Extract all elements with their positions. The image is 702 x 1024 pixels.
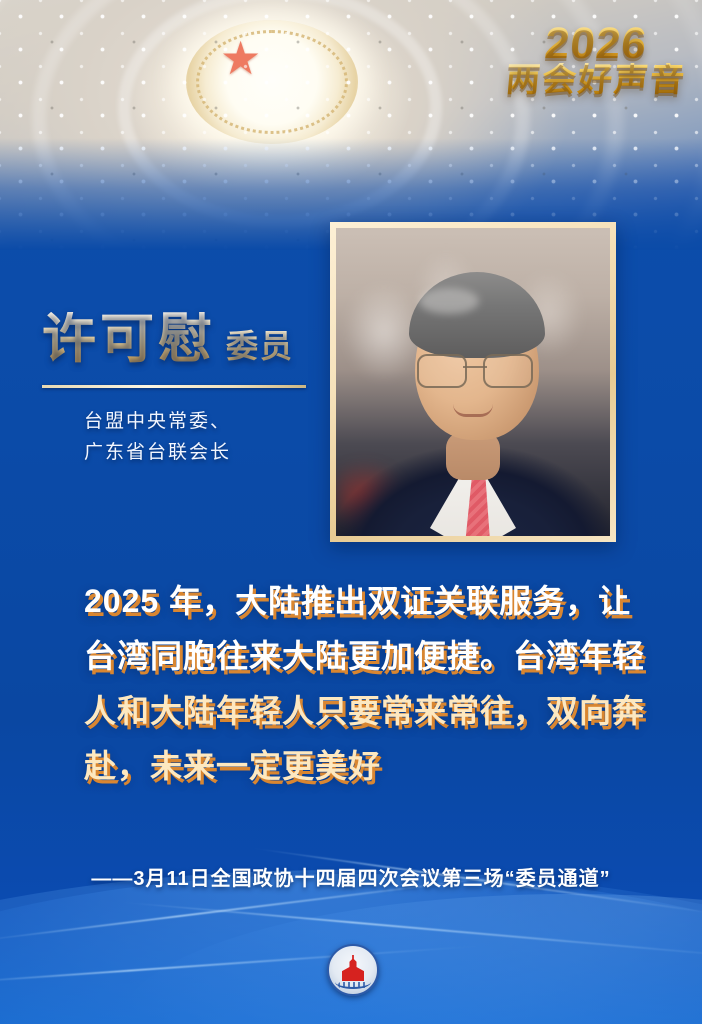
logo-year: 2026 <box>504 22 688 65</box>
name-block: 许可慰 委员 台盟中央常委、 广东省台联会长 <box>42 312 342 469</box>
person-subtitle-line-2: 广东省台联会长 <box>84 437 342 468</box>
emblem-text-dots <box>338 982 368 988</box>
glasses-icon <box>417 354 533 384</box>
person-subtitle-line-1: 台盟中央常委、 <box>84 406 342 437</box>
poster-root: ★ 2026 两会好声音 许可慰 委员 台盟中央常 <box>0 0 702 1024</box>
event-logo: 2026 两会好声音 <box>506 22 686 98</box>
quote-line: 赴，未来一定更美好 <box>84 739 629 794</box>
person-subtitle: 台盟中央常委、 广东省台联会长 <box>84 406 342 469</box>
quote-block: 2025 年，大陆推出双证关联服务，让 台湾同胞往来大陆更加便捷。台湾年轻 人和… <box>84 574 629 794</box>
xinhua-emblem-icon <box>327 944 379 996</box>
gold-divider <box>42 385 306 388</box>
name-line: 许可慰 委员 <box>42 312 342 367</box>
quote-line: 2025 年，大陆推出双证关联服务，让 <box>84 574 629 629</box>
quote-line: 台湾同胞往来大陆更加便捷。台湾年轻 <box>84 629 629 684</box>
portrait-photo <box>336 228 610 536</box>
person-name: 许可慰 <box>42 312 216 366</box>
logo-slogan: 两会好声音 <box>504 63 687 98</box>
quote-line: 人和大陆年轻人只要常来常往，双向奔 <box>84 684 629 739</box>
person-role: 委员 <box>226 321 294 367</box>
portrait-frame <box>330 222 616 542</box>
quote-attribution: ——3月11日全国政协十四届四次会议第三场“委员通道” <box>0 862 702 891</box>
